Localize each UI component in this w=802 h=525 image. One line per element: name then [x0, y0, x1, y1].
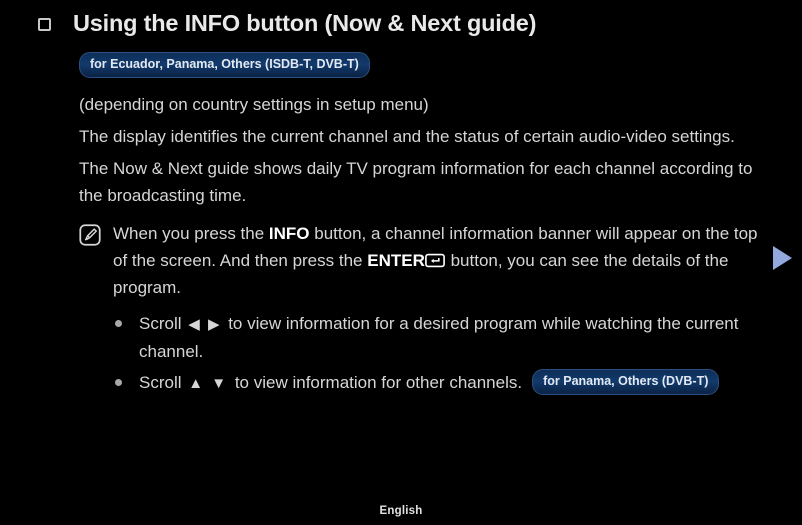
- content-column: for Ecuador, Panama, Others (ISDB-T, DVB…: [79, 52, 759, 401]
- list-item-text: Scroll ◀ ▶ to view information for a des…: [139, 310, 759, 365]
- up-down-arrow-icon: ▲ ▼: [186, 370, 230, 397]
- triangle-right-icon[interactable]: [773, 246, 792, 270]
- footer-language: English: [0, 505, 802, 517]
- status-badge-region-top: for Ecuador, Panama, Others (ISDB-T, DVB…: [79, 52, 370, 78]
- note-keyword-info: INFO: [269, 224, 310, 243]
- list-item: Scroll ▲ ▼ to view information for other…: [115, 369, 759, 397]
- list-item: Scroll ◀ ▶ to view information for a des…: [115, 310, 759, 365]
- bullet-list: Scroll ◀ ▶ to view information for a des…: [79, 310, 759, 397]
- bullet-dot-icon: [115, 320, 122, 327]
- page-title: Using the INFO button (Now & Next guide): [73, 10, 536, 37]
- list-item-text: Scroll ▲ ▼ to view information for other…: [139, 369, 759, 397]
- left-right-arrow-icon: ◀ ▶: [186, 311, 223, 338]
- bullet-2-suffix: to view information for other channels.: [230, 373, 522, 392]
- region-badge-row: for Ecuador, Panama, Others (ISDB-T, DVB…: [79, 52, 759, 78]
- bullet-2-prefix: Scroll: [139, 373, 186, 392]
- bullet-1-suffix: to view information for a desired progra…: [139, 314, 738, 361]
- paragraph-now-next-guide: The Now & Next guide shows daily TV prog…: [79, 155, 759, 209]
- note-block: When you press the INFO button, a channe…: [79, 220, 759, 301]
- note-pen-icon: [79, 224, 101, 246]
- status-badge-region-inline: for Panama, Others (DVB-T): [532, 369, 719, 395]
- note-text-part1: When you press the: [113, 224, 269, 243]
- page-heading: Using the INFO button (Now & Next guide): [38, 10, 758, 37]
- square-outline-icon: [38, 18, 51, 31]
- manual-page: Using the INFO button (Now & Next guide)…: [0, 0, 802, 525]
- paragraph-display-identifies: The display identifies the current chann…: [79, 123, 759, 150]
- note-text: When you press the INFO button, a channe…: [113, 220, 759, 301]
- bullet-dot-icon: [115, 379, 122, 386]
- note-keyword-enter: ENTER: [367, 251, 425, 270]
- enter-key-icon: [425, 249, 445, 264]
- paragraph-depending: (depending on country settings in setup …: [79, 91, 759, 118]
- bullet-1-prefix: Scroll: [139, 314, 186, 333]
